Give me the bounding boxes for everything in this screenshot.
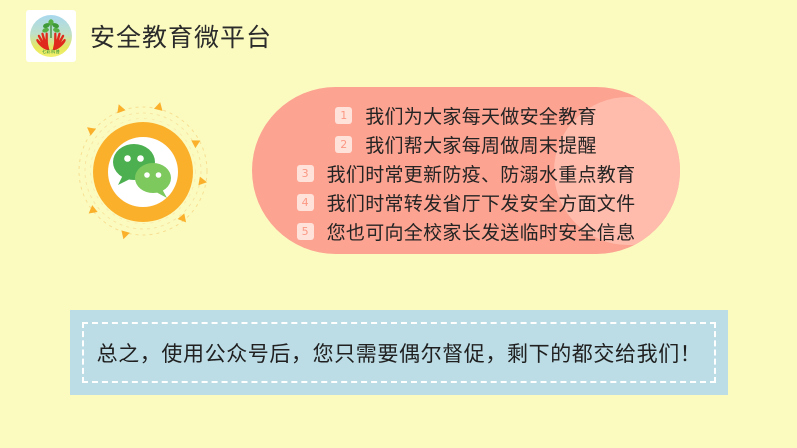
wechat-emblem (72, 100, 214, 242)
seedling-hands-logo-icon: 七彩科普 (30, 15, 72, 57)
feature-list-panel: 1 我们为大家每天做安全教育 2 我们帮大家每周做周末提醒 3 我们时常更新防疫… (252, 87, 680, 254)
list-item-number: 1 (335, 107, 352, 124)
list-item-label: 我们帮大家每周做周末提醒 (365, 131, 597, 158)
list-item: 3 我们时常更新防疫、防溺水重点教育 (252, 159, 680, 187)
page-title: 安全教育微平台 (90, 18, 272, 54)
header: 七彩科普 安全教育微平台 (26, 10, 272, 62)
list-item: 5 您也可向全校家长发送临时安全信息 (252, 217, 680, 245)
summary-banner-border: 总之，使用公众号后，您只需要偶尔督促，剩下的都交给我们！ (82, 322, 716, 383)
logo-caption: 七彩科普 (30, 49, 72, 54)
list-item-number: 4 (297, 194, 314, 211)
list-item-number: 2 (335, 136, 352, 153)
summary-banner: 总之，使用公众号后，您只需要偶尔督促，剩下的都交给我们！ (70, 310, 728, 395)
list-item: 4 我们时常转发省厅下发安全方面文件 (252, 188, 680, 216)
list-item-number: 3 (297, 165, 314, 182)
list-item-number: 5 (297, 223, 314, 240)
list-item-label: 我们时常更新防疫、防溺水重点教育 (327, 160, 636, 187)
list-item: 2 我们帮大家每周做周末提醒 (252, 130, 680, 158)
feature-list: 1 我们为大家每天做安全教育 2 我们帮大家每周做周末提醒 3 我们时常更新防疫… (252, 87, 680, 254)
hands-icon (34, 31, 68, 51)
wechat-bubbles-icon (110, 140, 176, 202)
slide-canvas: 七彩科普 安全教育微平台 (0, 0, 797, 448)
summary-banner-text: 总之，使用公众号后，您只需要偶尔督促，剩下的都交给我们！ (97, 338, 702, 368)
list-item-label: 您也可向全校家长发送临时安全信息 (327, 218, 636, 245)
logo-container: 七彩科普 (26, 10, 76, 62)
list-item-label: 我们为大家每天做安全教育 (365, 102, 597, 129)
list-item: 1 我们为大家每天做安全教育 (252, 101, 680, 129)
list-item-label: 我们时常转发省厅下发安全方面文件 (327, 189, 636, 216)
